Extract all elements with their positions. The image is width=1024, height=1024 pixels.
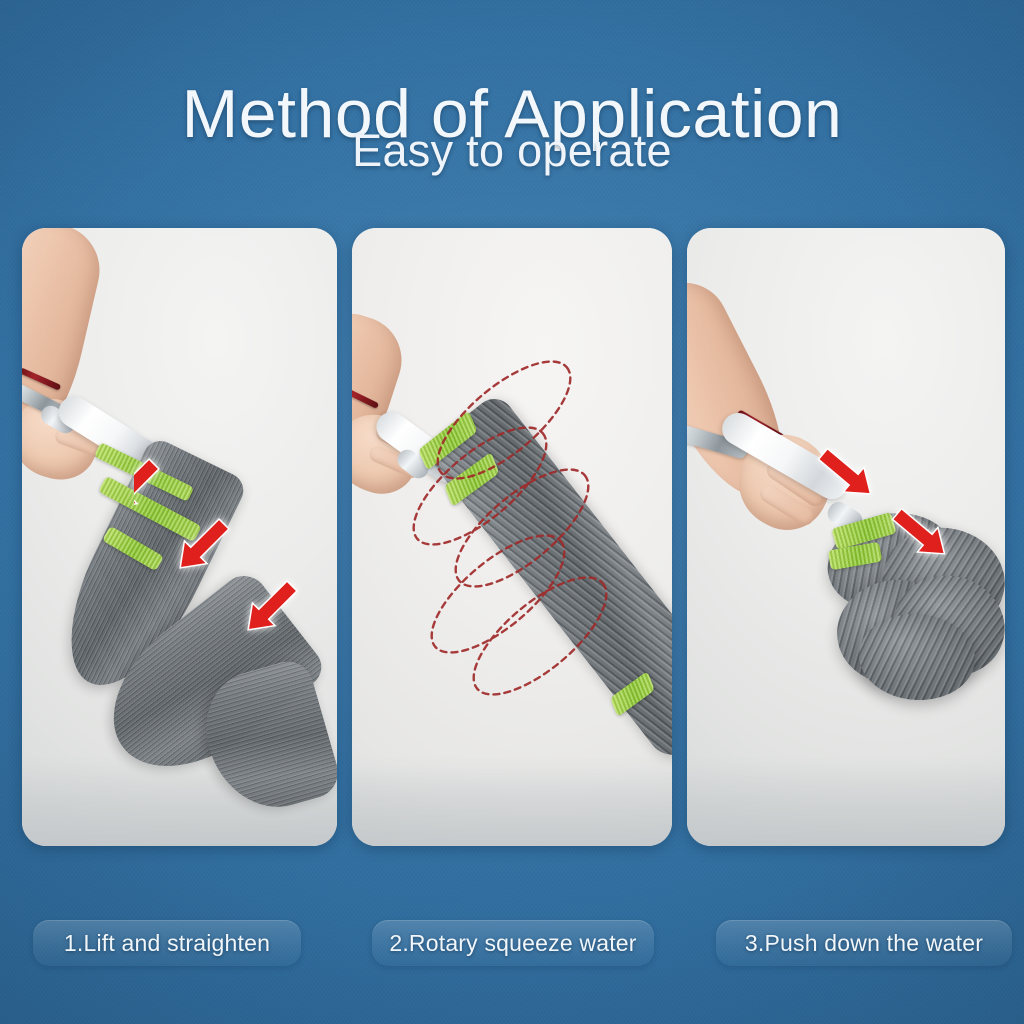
step-caption-2: 2.Rotary squeeze water (372, 920, 654, 966)
page-subtitle: Easy to operate (0, 128, 1024, 173)
step-caption-3-label: 3.Push down the water (745, 930, 983, 957)
rotation-spiral (352, 228, 672, 846)
step-panel-1 (22, 228, 337, 846)
step-caption-1-label: 1.Lift and straighten (64, 930, 270, 957)
step-caption-3: 3.Push down the water (716, 920, 1012, 966)
step-caption-1: 1.Lift and straighten (33, 920, 301, 966)
step-panel-2 (352, 228, 672, 846)
step-caption-2-label: 2.Rotary squeeze water (389, 930, 636, 957)
direction-arrow-up-left (134, 234, 334, 846)
infographic-canvas: Method of Application Easy to operate (0, 0, 1024, 1024)
step-panel-3 (687, 228, 1005, 846)
direction-arrow-down-right (779, 232, 1005, 846)
